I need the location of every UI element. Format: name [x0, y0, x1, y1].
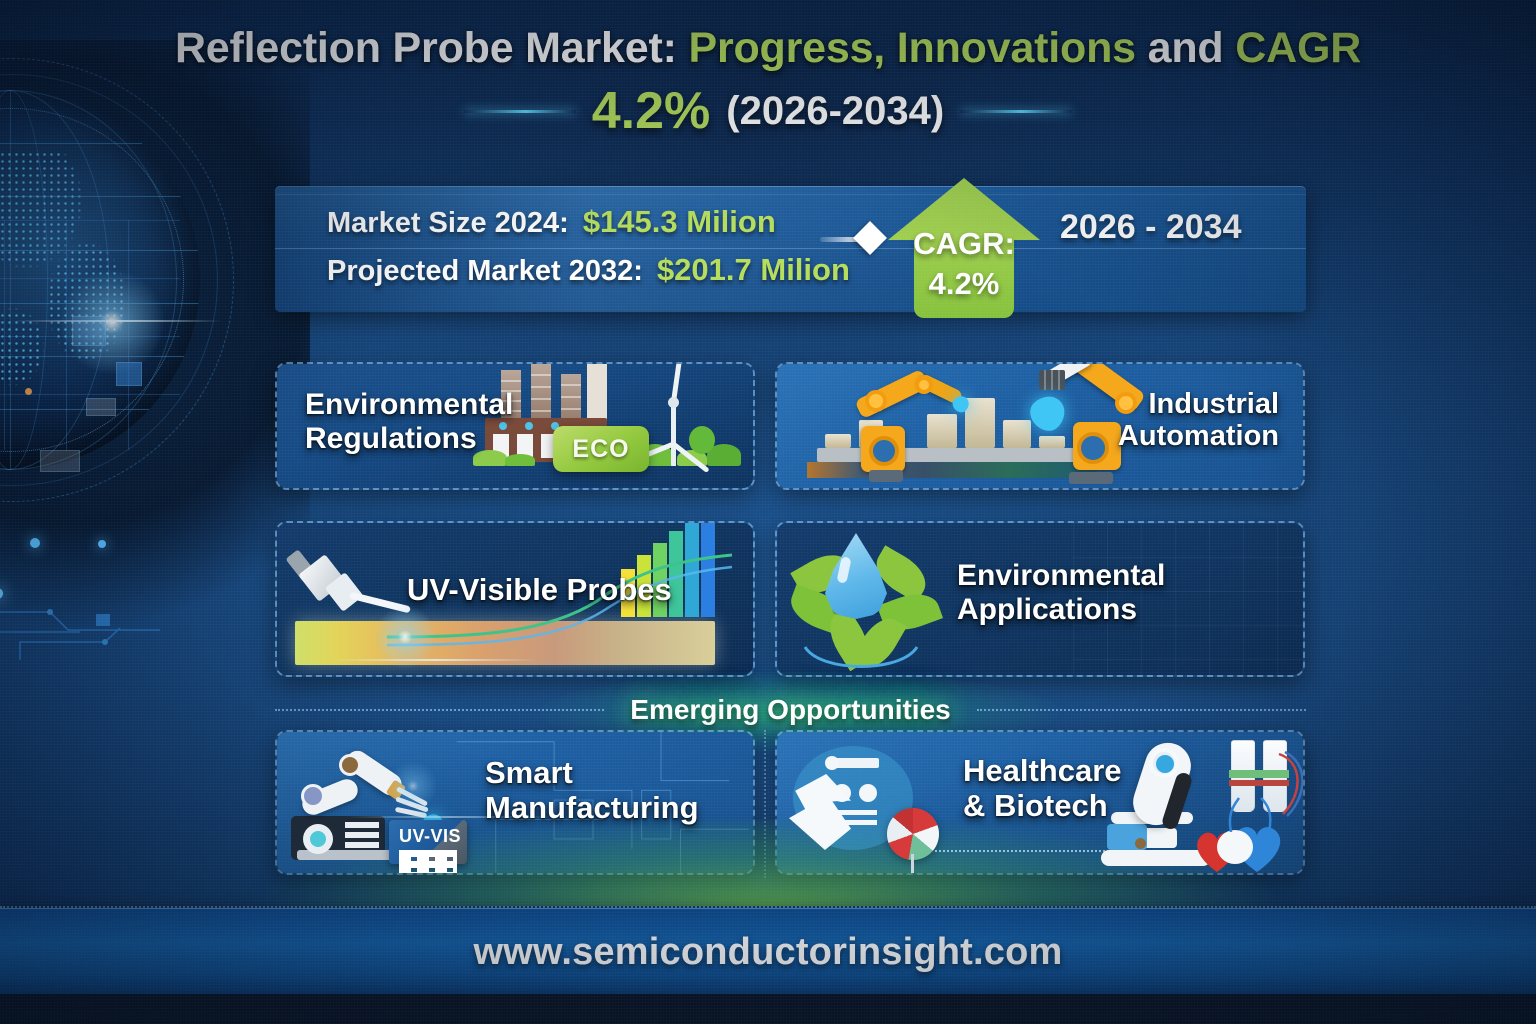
divider-label: Emerging Opportunities [604, 694, 976, 726]
card-label-line1: Healthcare [963, 754, 1122, 789]
title-cagr-value: 4.2% [592, 81, 711, 141]
card-industrial-automation[interactable]: Industrial Automation [775, 362, 1305, 490]
glow-line-right-icon [960, 110, 1072, 113]
title-part-4: CAGR [1235, 24, 1361, 72]
cagr-arrow-label: CAGR: [888, 224, 1040, 264]
emerging-opportunities-divider: Emerging Opportunities [275, 688, 1306, 732]
green-platform-glow [0, 820, 1536, 906]
footer-bar: www.semiconductorinsight.com [0, 908, 1536, 996]
card-label-line1: Industrial [1118, 388, 1279, 420]
card-label-line1: UV-Visible Probes [407, 573, 672, 608]
card-environmental-regulations[interactable]: ECO Environmental Regulations [275, 362, 755, 490]
card-label-line2: Applications [957, 593, 1165, 627]
cagr-up-arrow: CAGR: 4.2% [888, 178, 1040, 318]
card-label-line1: Environmental [957, 559, 1165, 593]
title-subline: 4.2% (2026-2034) [0, 81, 1536, 141]
infographic-canvas: Reflection Probe Market: Progress, Innov… [0, 0, 1536, 1024]
title-period: (2026-2034) [726, 89, 944, 134]
glow-line-left-icon [464, 110, 576, 113]
divider-dots-right-icon [977, 709, 1306, 711]
circuit-trace-icon [0, 510, 200, 660]
card-label-line2: Regulations [305, 422, 513, 456]
card-label-line1: Smart [485, 756, 699, 791]
footer-base-strip [0, 994, 1536, 1024]
page-title-block: Reflection Probe Market: Progress, Innov… [0, 24, 1536, 141]
heart-antennae-icon [1217, 796, 1289, 832]
card-label-line1: Environmental [305, 388, 513, 422]
card-healthcare-biotech[interactable]: Healthcare & Biotech [775, 730, 1305, 875]
projected-market-label: Projected Market 2032: [327, 255, 643, 288]
uv-vis-label: UV-VIS [399, 826, 461, 847]
cagr-arrow-value: 4.2% [888, 264, 1040, 304]
uv-vis-panel: UV-VIS [389, 820, 467, 864]
card-label-line2: & Biotech [963, 789, 1122, 824]
title-part-2: Progress, Innovations [688, 24, 1135, 72]
card-uv-visible-probes[interactable]: UV-Visible Probes [275, 521, 755, 677]
banner-years: 2026 - 2034 [1060, 208, 1242, 247]
page-title: Reflection Probe Market: Progress, Innov… [0, 24, 1536, 73]
market-size-banner: Market Size 2024: $145.3 Milion Projecte… [275, 186, 1306, 312]
footer-url[interactable]: www.semiconductorinsight.com [473, 931, 1062, 974]
projected-market-row: Projected Market 2032: $201.7 Milion [327, 252, 850, 300]
card-label-line2: Manufacturing [485, 791, 699, 826]
divider-dots-left-icon [275, 709, 604, 711]
eco-badge: ECO [553, 426, 649, 472]
globe-light-flare-icon [52, 262, 172, 382]
water-arc-icon [801, 643, 921, 675]
card-label-line2: Automation [1118, 420, 1279, 452]
eco-badge-label: ECO [572, 435, 629, 464]
arrow-pointer-icon [820, 218, 894, 258]
market-size-label: Market Size 2024: [327, 207, 569, 240]
title-part-1: Reflection Probe Market: [175, 24, 677, 72]
card-smart-manufacturing[interactable]: UV-VIS Smart Manufacturing [275, 730, 755, 875]
market-size-row: Market Size 2024: $145.3 Milion [327, 204, 850, 252]
card-environmental-applications[interactable]: Environmental Applications [775, 521, 1305, 677]
market-size-value: $145.3 Milion [583, 204, 776, 240]
title-part-3: and [1148, 24, 1224, 72]
water-droplet-icon [825, 533, 887, 619]
